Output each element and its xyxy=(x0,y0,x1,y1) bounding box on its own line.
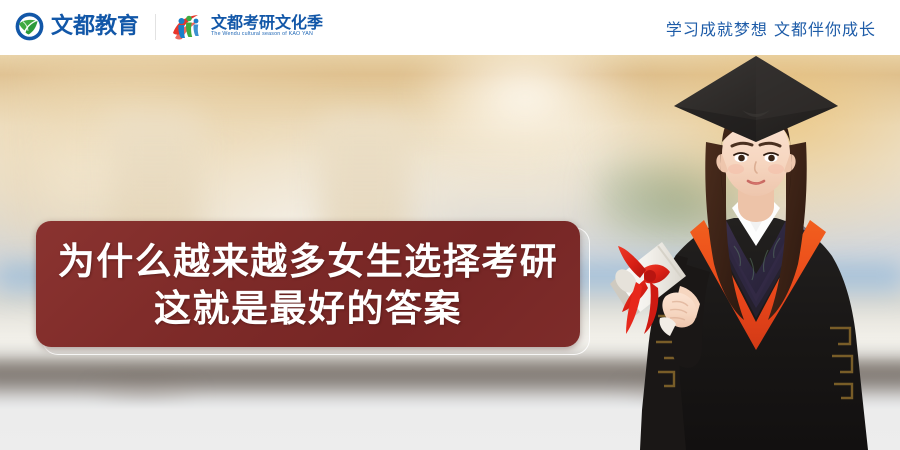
wendu-article-banner: 文都教育 文都考研文化季 xyxy=(0,0,900,450)
wendu-leaf-circle-logo-icon xyxy=(14,11,45,42)
graduate-student-photo xyxy=(600,55,900,450)
wendu-kaoyan-logo-texts: 文都考研文化季 The Wendu cultural season of KAO… xyxy=(211,15,323,37)
header-slogan: 学习成就梦想 文都伴你成长 xyxy=(666,16,876,40)
hero-title-line-1: 为什么越来越多女生选择考研 xyxy=(58,238,559,285)
wendu-kaoyan-logo-text-en: The Wendu cultural season of KAO YAN xyxy=(211,32,325,37)
hero-title-line-2: 这就是最好的答案 xyxy=(154,285,462,332)
wendu-kaoyan-season-logo[interactable]: 文都考研文化季 The Wendu cultural season of KAO… xyxy=(172,12,323,42)
wendu-kaoyan-logo-text-cn: 文都考研文化季 xyxy=(211,15,323,31)
site-header: 文都教育 文都考研文化季 xyxy=(0,0,900,55)
logo-divider xyxy=(155,14,156,40)
hero-photo-stage: 为什么越来越多女生选择考研 这就是最好的答案 xyxy=(0,55,900,450)
wendu-figures-swoosh-logo-icon xyxy=(172,12,206,42)
logo-group: 文都教育 文都考研文化季 xyxy=(14,11,323,42)
wendu-education-logo[interactable]: 文都教育 xyxy=(14,11,139,42)
hero-title-panel: 为什么越来越多女生选择考研 这就是最好的答案 xyxy=(36,221,580,347)
wendu-education-logo-text: 文都教育 xyxy=(51,16,139,38)
